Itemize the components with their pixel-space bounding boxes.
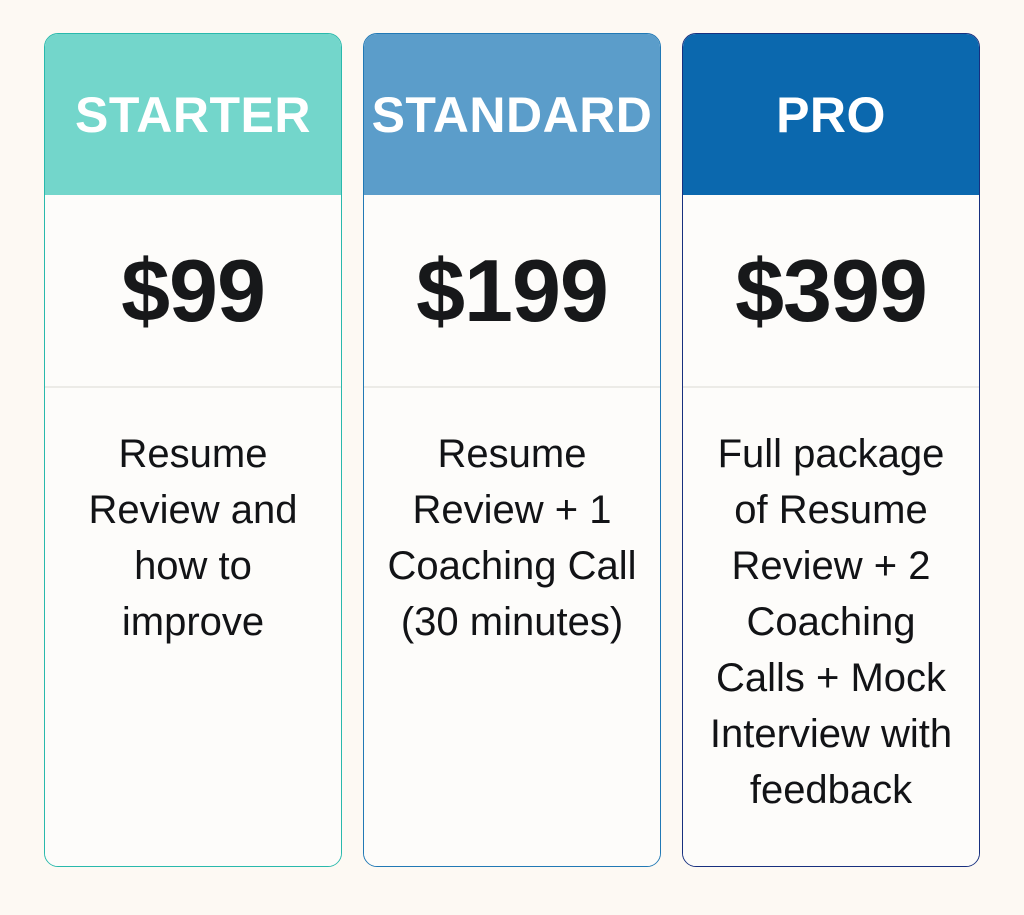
plan-price-pro: $399 [735, 247, 927, 335]
pricing-table: STARTER $99 Resume Review and how to imp… [0, 0, 1024, 915]
plan-description-row-pro: Full package of Resume Review + 2 Coachi… [683, 388, 979, 866]
plan-price-starter: $99 [121, 247, 265, 335]
plan-description-row-starter: Resume Review and how to improve [45, 388, 341, 866]
plan-description-standard: Resume Review + 1 Coaching Call (30 minu… [382, 426, 642, 650]
plan-card-pro[interactable]: PRO $399 Full package of Resume Review +… [682, 33, 980, 867]
plan-name-standard: STANDARD [364, 34, 660, 195]
plan-description-pro: Full package of Resume Review + 2 Coachi… [699, 426, 963, 818]
plan-card-standard[interactable]: STANDARD $199 Resume Review + 1 Coaching… [363, 33, 661, 867]
plan-price-row-starter: $99 [45, 195, 341, 388]
plan-price-row-pro: $399 [683, 195, 979, 388]
plan-description-row-standard: Resume Review + 1 Coaching Call (30 minu… [364, 388, 660, 866]
plan-price-standard: $199 [416, 247, 608, 335]
plan-card-starter[interactable]: STARTER $99 Resume Review and how to imp… [44, 33, 342, 867]
plan-description-starter: Resume Review and how to improve [63, 426, 323, 650]
plan-price-row-standard: $199 [364, 195, 660, 388]
plan-name-starter: STARTER [45, 34, 341, 195]
plan-name-pro: PRO [683, 34, 979, 195]
